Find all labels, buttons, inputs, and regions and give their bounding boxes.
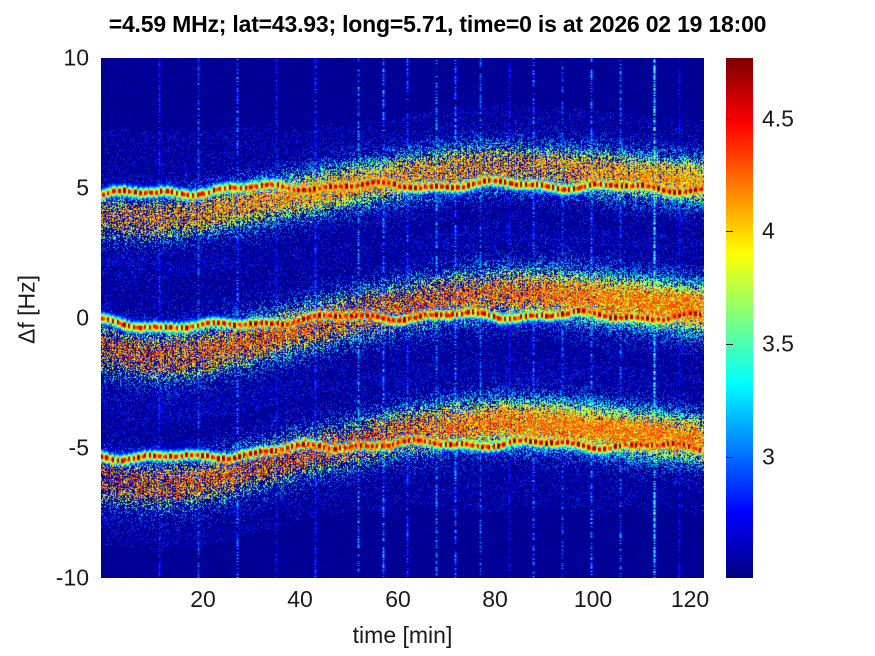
ytick-label-minus5: -5: [29, 435, 89, 462]
spectrogram-image: [101, 58, 704, 578]
colorbar-tick-3: [726, 457, 733, 458]
colorbar-tick-4: [726, 231, 733, 232]
x-axis-label: time [min]: [101, 622, 704, 649]
colorbar-gradient: [726, 58, 753, 578]
colorbar[interactable]: [726, 58, 753, 578]
xtick-label-60: 60: [385, 586, 411, 613]
colorbar-label-4p5: 4.5: [762, 106, 794, 133]
xtick-label-40: 40: [287, 586, 313, 613]
figure-canvas: =4.59 MHz; lat=43.93; long=5.71, time=0 …: [0, 0, 875, 656]
colorbar-label-4: 4: [762, 218, 775, 245]
ytick-label-10: 10: [29, 45, 89, 72]
spectrogram-axes[interactable]: [101, 58, 704, 578]
colorbar-label-3: 3: [762, 444, 775, 471]
ytick-label-5: 5: [29, 175, 89, 202]
colorbar-tick-4p5: [726, 119, 733, 120]
xtick-label-80: 80: [482, 586, 508, 613]
y-axis-label: Δf [Hz]: [14, 225, 41, 395]
colorbar-tick-3p5: [726, 344, 733, 345]
xtick-label-20: 20: [190, 586, 216, 613]
colorbar-label-3p5: 3.5: [762, 331, 794, 358]
xtick-label-100: 100: [574, 586, 612, 613]
plot-title: =4.59 MHz; lat=43.93; long=5.71, time=0 …: [0, 11, 875, 38]
xtick-label-120: 120: [671, 586, 709, 613]
ytick-label-minus10: -10: [29, 565, 89, 592]
